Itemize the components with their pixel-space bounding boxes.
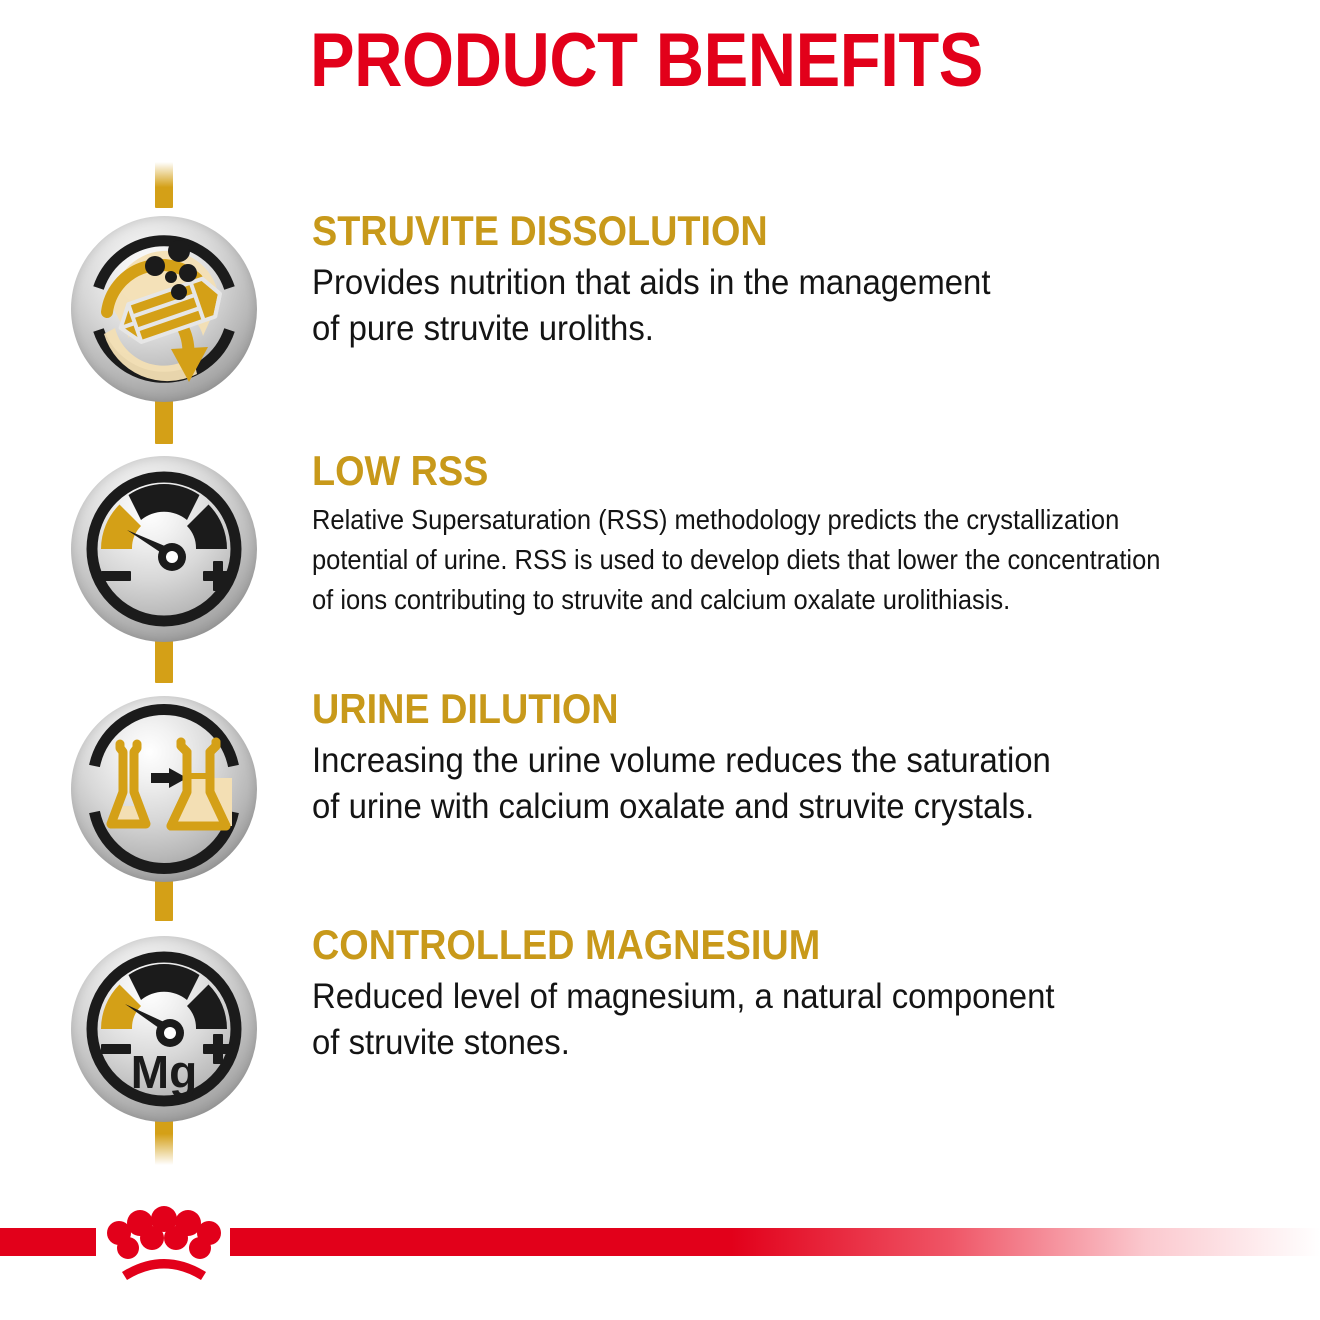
two-flasks-arrow-icon: [71, 696, 257, 882]
gauge-low-icon: [71, 456, 257, 642]
product-benefits-page: PRODUCT BENEFITS: [0, 0, 1320, 1320]
benefit-heading: CONTROLLED MAGNESIUM: [312, 922, 1023, 968]
magnesium-symbol-label: Mg: [131, 1046, 197, 1098]
footer: [0, 1228, 1320, 1258]
connector-dash: [155, 637, 173, 683]
benefit-body-line: Provides nutrition that aids in the mana…: [312, 260, 991, 306]
benefit-body: Provides nutrition that aids in the mana…: [312, 260, 991, 352]
benefit-body-line: Increasing the urine volume reduces the …: [312, 738, 1051, 784]
benefit-body-line: of ions contributing to struvite and cal…: [312, 580, 1160, 620]
connector-dash: [155, 398, 173, 444]
benefit-body-line: of pure struvite uroliths.: [312, 306, 991, 352]
benefit-body-line: of struvite stones.: [312, 1020, 1055, 1066]
benefit-heading: STRUVITE DISSOLUTION: [312, 208, 962, 254]
page-title: PRODUCT BENEFITS: [310, 22, 983, 100]
benefit-body-line: Reduced level of magnesium, a natural co…: [312, 974, 1055, 1020]
benefit-body: Relative Supersaturation (RSS) methodolo…: [312, 500, 1160, 620]
benefit-heading: LOW RSS: [312, 448, 1151, 494]
benefit-body: Reduced level of magnesium, a natural co…: [312, 974, 1055, 1066]
benefit-icon-urine-dilution: [71, 696, 257, 882]
benefit-heading: URINE DILUTION: [312, 686, 1019, 732]
connector-dash: [155, 162, 173, 208]
benefit-icon-controlled-magnesium: Mg: [71, 936, 257, 1122]
footer-bar-right: [230, 1228, 1320, 1256]
benefit-body-line: of urine with calcium oxalate and struvi…: [312, 784, 1051, 830]
benefit-block-controlled-magnesium: CONTROLLED MAGNESIUM Reduced level of ma…: [312, 922, 1102, 1066]
royal-canin-crown-logo: [94, 1206, 234, 1284]
benefit-block-urine-dilution: URINE DILUTION Increasing the urine volu…: [312, 686, 1098, 830]
benefit-block-low-rss: LOW RSS Relative Supersaturation (RSS) m…: [312, 448, 1244, 620]
footer-bar-left: [0, 1228, 96, 1256]
benefit-icon-struvite-dissolution: [71, 216, 257, 402]
struvite-crystal-dissolving-icon: [71, 216, 257, 402]
benefit-block-struvite-dissolution: STRUVITE DISSOLUTION Provides nutrition …: [312, 208, 1034, 352]
benefit-icon-low-rss: [71, 456, 257, 642]
benefit-body: Increasing the urine volume reduces the …: [312, 738, 1051, 830]
benefit-body-line: Relative Supersaturation (RSS) methodolo…: [312, 500, 1160, 540]
benefit-body-line: potential of urine. RSS is used to devel…: [312, 540, 1160, 580]
gauge-magnesium-icon: Mg: [71, 936, 257, 1122]
